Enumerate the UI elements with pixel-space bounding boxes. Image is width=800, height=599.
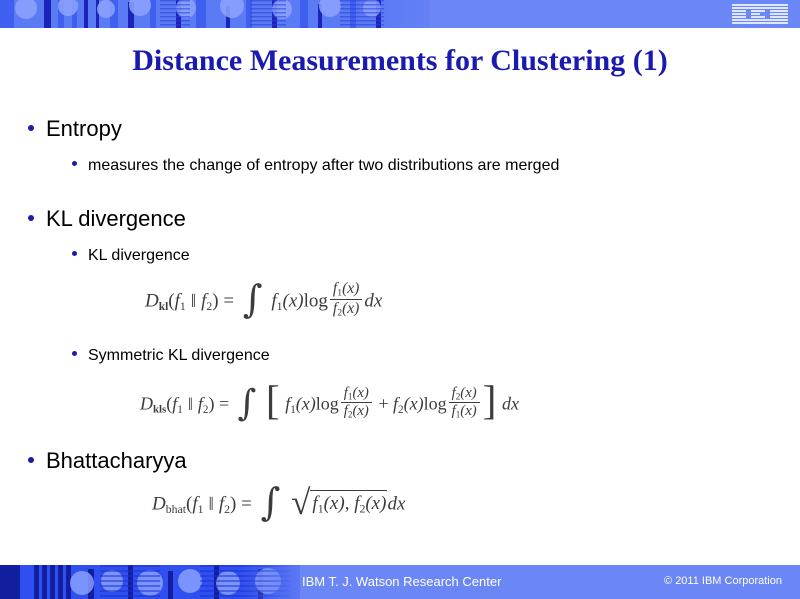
radicand-comma: , — [345, 493, 350, 514]
denominator-arg: (x) — [460, 403, 476, 419]
formula-paren-close: ) — [212, 291, 218, 312]
bullet-dot-icon — [72, 161, 77, 166]
square-root: √f1(x), f2(x) — [291, 492, 387, 518]
ibm-logo-icon — [732, 4, 788, 25]
term1-log: log — [316, 394, 339, 414]
bullet-kl-divergence-sub: KL divergence — [72, 248, 190, 264]
formula-equals: = — [223, 291, 234, 312]
fraction-denominator: f1(x) — [449, 402, 480, 420]
formula-arg1-sub: 1 — [180, 300, 186, 313]
sqrt-radicand: f1(x), f2(x) — [310, 490, 387, 516]
bullet-dot-icon — [72, 351, 77, 356]
term1-fraction: f1(x)f2(x) — [341, 385, 372, 420]
formula-differential: dx — [387, 494, 405, 515]
formula-log: log — [304, 291, 328, 312]
radicand-f2-arg: (x) — [365, 493, 386, 514]
bullet-bhattacharyya: Bhattacharyya — [28, 450, 187, 472]
fraction-numerator: f1(x) — [330, 280, 362, 299]
sqrt-icon: √ — [291, 483, 310, 522]
denominator-arg: (x) — [352, 403, 368, 419]
bhattacharyya-formula: Dbhat(f1‖f2) = ∫ √f1(x), f2(x)dx — [152, 492, 405, 518]
kl-divergence-formula: Dkl(f1‖f2) = ∫ f1(x)logf1(x)f2(x)dx — [145, 283, 382, 322]
formula-lhs-symbol: D — [152, 494, 166, 515]
formula-arg1-sub: 1 — [177, 404, 183, 416]
page-title: Distance Measurements for Clustering (1) — [0, 44, 800, 78]
formula-differential: dx — [502, 394, 519, 414]
formula-paren-close: ) — [230, 494, 236, 515]
header-pattern-fade — [380, 0, 470, 28]
slide-content: Entropy measures the change of entropy a… — [0, 100, 800, 555]
fraction-numerator: f1(x) — [341, 385, 372, 402]
bullet-dot-icon — [28, 457, 34, 463]
formula-equals: = — [241, 494, 252, 515]
numerator-arg: (x) — [352, 385, 368, 401]
bullet-entropy: Entropy — [28, 118, 122, 140]
integral-icon: ∫ — [238, 383, 257, 424]
footer-research-center-label: IBM T. J. Watson Research Center — [302, 574, 501, 589]
header-decorative-pattern — [0, 0, 430, 28]
bullet-dot-icon — [28, 125, 34, 131]
radicand-f1-arg: (x) — [324, 493, 345, 514]
formula-lhs-subscript: kls — [153, 404, 166, 416]
footer-banner: IBM T. J. Watson Research Center © 2011 … — [0, 565, 800, 599]
denominator-arg: (x) — [342, 300, 359, 317]
formula-arg1-sub: 1 — [198, 503, 204, 516]
numerator-arg: (x) — [342, 280, 359, 297]
bracket-open: [ — [266, 377, 280, 423]
bullet-dot-icon — [72, 251, 77, 256]
bullet-label: Symmetric KL divergence — [88, 348, 270, 364]
bullet-dot-icon — [28, 215, 34, 221]
term2-factor-arg: (x) — [404, 394, 424, 414]
formula-divider: ‖ — [183, 394, 198, 414]
formula-lhs-symbol: D — [145, 291, 159, 312]
formula-lhs-subscript: bhat — [166, 503, 186, 516]
symmetric-kl-divergence-formula: Dkls(f1‖f2) = ∫ [ f1(x)logf1(x)f2(x) + f… — [140, 388, 519, 423]
bullet-symmetric-kl-divergence: Symmetric KL divergence — [72, 348, 270, 364]
formula-divider: ‖ — [186, 291, 201, 312]
formula-equals: = — [219, 394, 229, 414]
bracket-close: ] — [483, 377, 497, 423]
fraction-denominator: f2(x) — [330, 299, 362, 319]
numerator-arg: (x) — [460, 385, 476, 401]
bullet-kl-divergence: KL divergence — [28, 208, 186, 230]
formula-factor-arg: (x) — [283, 291, 304, 312]
bullet-label: KL divergence — [46, 208, 186, 230]
formula-lhs-subscript: kl — [159, 301, 169, 313]
formula-plus: + — [378, 394, 388, 414]
header-banner — [0, 0, 800, 28]
term2-log: log — [424, 394, 447, 414]
term2-fraction: f2(x)f1(x) — [449, 385, 480, 420]
formula-divider: ‖ — [204, 494, 219, 515]
fraction-denominator: f2(x) — [341, 402, 372, 420]
formula-fraction: f1(x)f2(x) — [330, 280, 362, 319]
integral-icon: ∫ — [243, 277, 263, 321]
formula-differential: dx — [364, 291, 382, 312]
bullet-label: Entropy — [46, 118, 122, 140]
bullet-label: KL divergence — [88, 248, 190, 264]
bullet-label: Bhattacharyya — [46, 450, 187, 472]
footer-copyright-label: © 2011 IBM Corporation — [664, 575, 782, 587]
bullet-label: measures the change of entropy after two… — [88, 158, 559, 174]
term1-factor-arg: (x) — [296, 394, 316, 414]
formula-paren-close: ) — [208, 394, 214, 414]
integral-icon: ∫ — [261, 480, 281, 524]
fraction-numerator: f2(x) — [449, 385, 480, 402]
bullet-entropy-description: measures the change of entropy after two… — [72, 158, 559, 174]
formula-lhs-symbol: D — [140, 394, 153, 414]
